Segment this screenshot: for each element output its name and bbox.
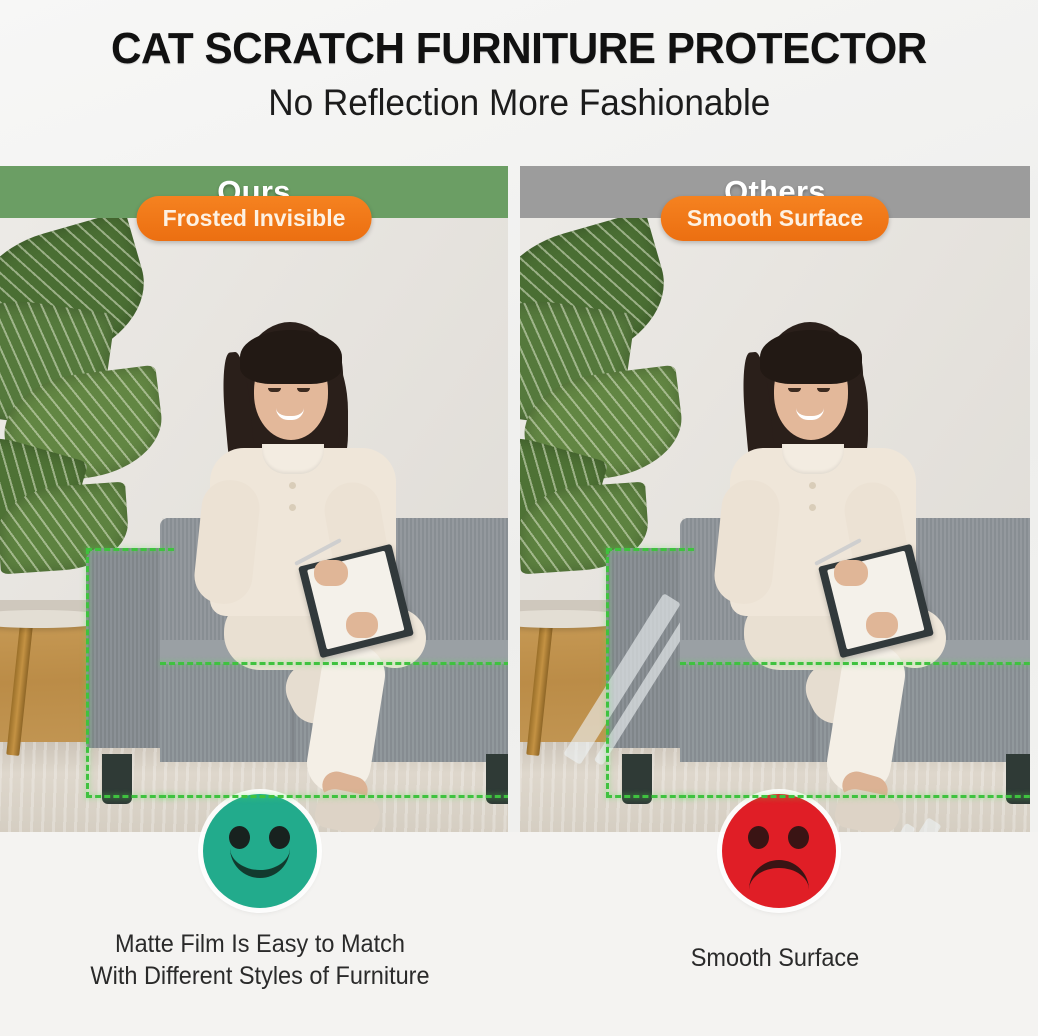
caption-ours-line2: With Different Styles of Furniture bbox=[53, 960, 467, 992]
photo-others bbox=[520, 218, 1030, 832]
header-block: CAT SCRATCH FURNITURE PROTECTOR No Refle… bbox=[0, 0, 1038, 160]
caption-ours: Matte Film Is Easy to Match With Differe… bbox=[53, 928, 467, 992]
caption-others: Smooth Surface bbox=[573, 942, 977, 974]
comparison-strip: Ours bbox=[0, 166, 1038, 832]
person-seated bbox=[196, 322, 446, 822]
caption-ours-line1: Matte Film Is Easy to Match bbox=[53, 928, 467, 960]
comparison-panel-others: Others bbox=[520, 166, 1030, 832]
page-subtitle: No Reflection More Fashionable bbox=[268, 82, 770, 124]
page-title: CAT SCRATCH FURNITURE PROTECTOR bbox=[111, 24, 927, 74]
photo-ours bbox=[0, 218, 508, 832]
person-seated bbox=[716, 322, 966, 822]
footer-block: Matte Film Is Easy to Match With Differe… bbox=[0, 832, 1038, 1036]
badge-ours: Frosted Invisible bbox=[137, 196, 372, 241]
caption-others-line1: Smooth Surface bbox=[573, 942, 977, 974]
comparison-panel-ours: Ours bbox=[0, 166, 508, 832]
product-comparison-infographic: CAT SCRATCH FURNITURE PROTECTOR No Refle… bbox=[0, 0, 1038, 1036]
sad-face-icon bbox=[722, 794, 836, 908]
badge-others: Smooth Surface bbox=[661, 196, 889, 241]
happy-face-icon bbox=[203, 794, 317, 908]
reflection-streak bbox=[594, 616, 693, 765]
